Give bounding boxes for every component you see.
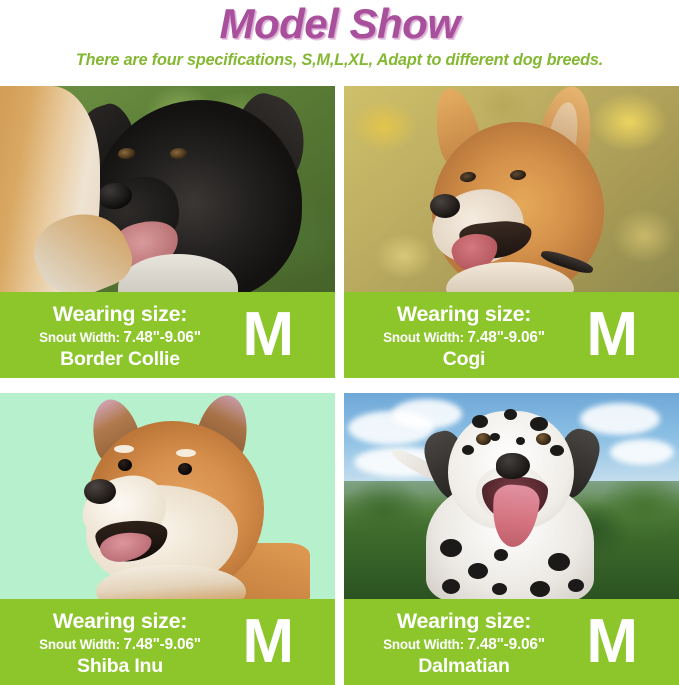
dog-photo-dalmatian [344,393,679,599]
snout-width-range: 7.48"-9.06" [467,329,544,346]
dalmatian-eye-right-shape [536,433,551,445]
breed-name: Border Collie [60,348,180,371]
dalmatian-spot [530,417,548,431]
size-label-bar: Wearing size: Snout Width: 7.48"-9.06" B… [0,292,335,378]
size-label-text-column: Wearing size: Snout Width: 7.48"-9.06" B… [0,292,240,378]
dalmatian-spot [494,549,508,561]
breed-card-border-collie: Wearing size: Snout Width: 7.48"-9.06" B… [0,86,335,378]
wearing-size-label: Wearing size: [397,609,531,634]
dalmatian-spot [490,433,500,441]
snout-width-prefix: Snout Width: [383,637,467,652]
dalmatian-spot [472,415,488,428]
shiba-brow-right-shape [176,449,196,457]
snout-width-line: Snout Width: 7.48"-9.06" [39,635,201,654]
page-title: Model Show [0,1,679,47]
breed-name: Shiba Inu [77,655,163,678]
dalmatian-spot [442,579,460,594]
model-show-infographic: Model Show There are four specifications… [0,0,679,685]
size-letter: M [242,611,293,673]
breed-name: Cogi [443,348,486,371]
dalmatian-spot [492,583,507,595]
wearing-size-label: Wearing size: [53,609,187,634]
dog-photo-shiba-inu [0,393,335,599]
breed-card-shiba-inu: Wearing size: Snout Width: 7.48"-9.06" S… [0,393,335,685]
dalmatian-spot [462,445,474,455]
wearing-size-label: Wearing size: [397,302,531,327]
dalmatian-spot [468,563,488,579]
size-label-text-column: Wearing size: Snout Width: 7.48"-9.06" S… [0,599,240,685]
corgi-nose-shape [430,194,460,218]
size-letter: M [242,304,293,366]
dalmatian-spot [516,437,525,445]
size-label-text-column: Wearing size: Snout Width: 7.48"-9.06" D… [344,599,584,685]
shiba-eye-right-shape [178,463,192,475]
dalmatian-spot [440,539,462,557]
breed-card-grid: Wearing size: Snout Width: 7.48"-9.06" B… [0,86,679,685]
snout-width-range: 7.48"-9.06" [467,636,544,653]
snout-width-line: Snout Width: 7.48"-9.06" [383,635,545,654]
size-label-bar: Wearing size: Snout Width: 7.48"-9.06" C… [344,292,679,378]
size-label-bar: Wearing size: Snout Width: 7.48"-9.06" S… [0,599,335,685]
shiba-nose-shape [84,479,116,504]
breed-name: Dalmatian [418,655,509,678]
snout-width-prefix: Snout Width: [39,330,123,345]
snout-width-prefix: Snout Width: [39,637,123,652]
size-label-text-column: Wearing size: Snout Width: 7.48"-9.06" C… [344,292,584,378]
breed-card-dalmatian: Wearing size: Snout Width: 7.48"-9.06" D… [344,393,679,685]
shiba-brow-left-shape [114,445,134,453]
dalmatian-spot [504,409,517,420]
dalmatian-eye-left-shape [476,433,491,445]
wearing-size-label: Wearing size: [53,302,187,327]
dalmatian-spot [530,581,550,597]
cloud-shape [610,439,674,465]
header: Model Show There are four specifications… [0,0,679,70]
dog-photo-cogi [344,86,679,292]
snout-width-range: 7.48"-9.06" [123,329,200,346]
shiba-eye-left-shape [118,459,132,471]
dalmatian-spot [550,445,564,456]
dalmatian-spot [548,553,570,571]
dalmatian-spot [568,579,584,592]
snout-width-line: Snout Width: 7.48"-9.06" [39,328,201,347]
cloud-shape [392,399,462,429]
size-letter: M [586,611,637,673]
size-letter: M [586,304,637,366]
snout-width-line: Snout Width: 7.48"-9.06" [383,328,545,347]
snout-width-range: 7.48"-9.06" [123,636,200,653]
snout-width-prefix: Snout Width: [383,330,467,345]
cloud-shape [580,403,660,435]
size-label-bar: Wearing size: Snout Width: 7.48"-9.06" D… [344,599,679,685]
page-subtitle: There are four specifications, S,M,L,XL,… [0,50,679,70]
dog-photo-border-collie [0,86,335,292]
breed-card-cogi: Wearing size: Snout Width: 7.48"-9.06" C… [344,86,679,378]
